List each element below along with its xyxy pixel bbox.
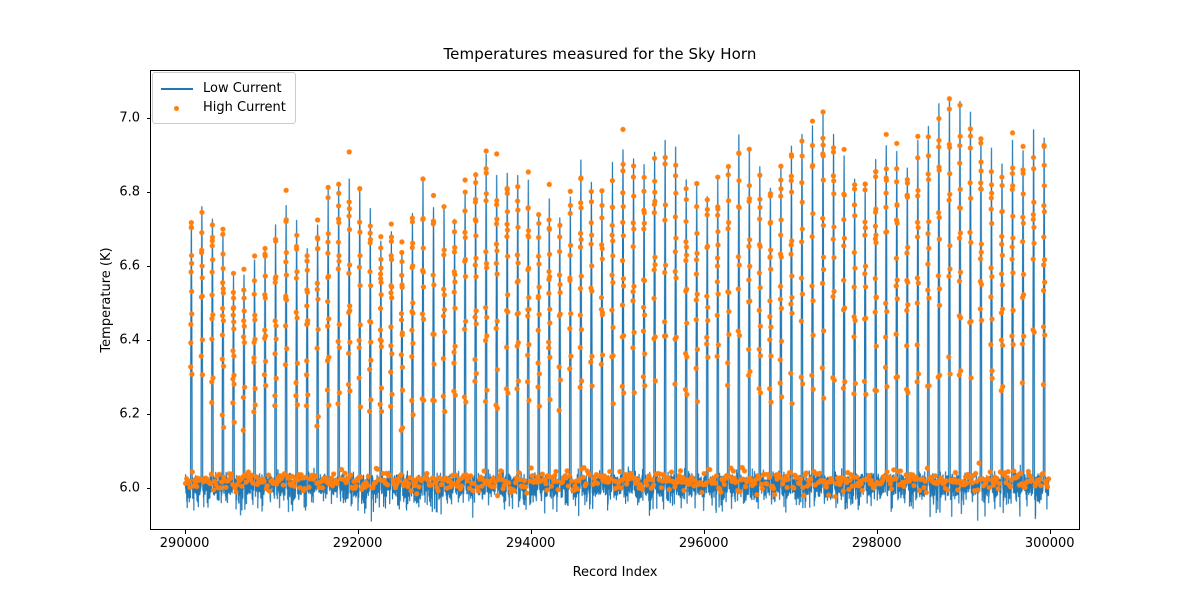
chart-legend: Low Current High Current [152,72,296,124]
x-tick-label: 292000 [333,536,383,551]
x-tick-mark [531,530,532,534]
y-tick-mark [147,192,151,193]
x-axis-label: Record Index [150,565,1080,580]
y-tick-label: 6.8 [104,184,140,199]
x-tick-label: 298000 [852,536,902,551]
x-tick-label: 300000 [1025,536,1075,551]
x-tick-mark [185,530,186,534]
legend-item-low-current: Low Current [160,79,286,98]
legend-label-low-current: Low Current [203,81,282,96]
dot-swatch-icon [160,101,194,115]
x-tick-mark [704,530,705,534]
y-tick-label: 6.2 [104,406,140,421]
y-tick-label: 6.0 [104,480,140,495]
y-tick-mark [147,266,151,267]
y-axis-label: Temperature (K) [99,70,119,530]
x-tick-mark [877,530,878,534]
legend-item-high-current: High Current [160,98,286,117]
y-tick-mark [147,488,151,489]
plot-axes [150,70,1080,530]
page-title: Temperatures measured for the Sky Horn [0,45,1200,63]
y-tick-label: 7.0 [104,111,140,126]
matplotlib-figure: Temperatures measured for the Sky Horn L… [0,0,1200,600]
y-tick-mark [147,118,151,119]
legend-label-high-current: High Current [203,100,286,115]
x-tick-label: 294000 [506,536,556,551]
x-tick-mark [358,530,359,534]
plot-canvas [151,71,1079,529]
x-tick-label: 296000 [679,536,729,551]
x-tick-mark [1050,530,1051,534]
line-swatch-icon [160,82,194,96]
y-tick-mark [147,340,151,341]
y-tick-mark [147,414,151,415]
x-tick-label: 290000 [160,536,210,551]
y-tick-label: 6.4 [104,332,140,347]
y-tick-label: 6.6 [104,258,140,273]
